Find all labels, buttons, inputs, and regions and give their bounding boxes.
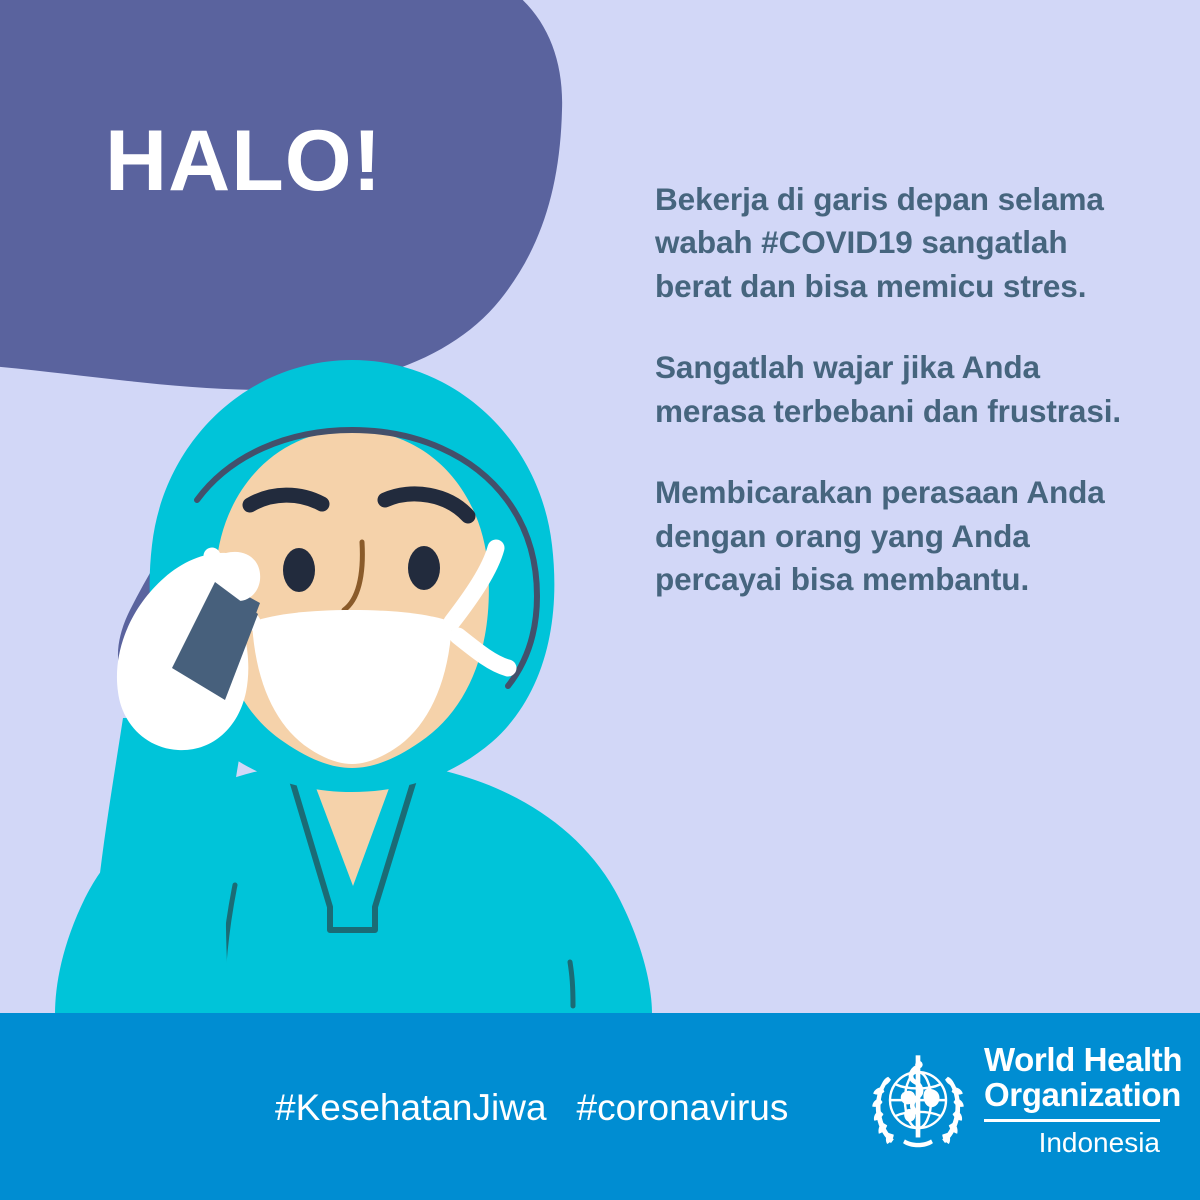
who-line-1: World Health bbox=[984, 1042, 1162, 1077]
who-logo: World Health Organization Indonesia bbox=[862, 1040, 1162, 1180]
eye-right bbox=[408, 546, 440, 590]
paragraph-2: Sangatlah wajar jika Anda merasa terbeba… bbox=[655, 346, 1125, 433]
eye-left bbox=[283, 548, 315, 592]
body-copy: Bekerja di garis depan selama wabah #COV… bbox=[655, 178, 1125, 602]
who-country-label: Indonesia bbox=[984, 1127, 1162, 1159]
hashtag-row: #KesehatanJiwa#coronavirus bbox=[275, 1087, 788, 1129]
who-emblem-icon bbox=[862, 1046, 974, 1158]
who-divider-rule bbox=[984, 1119, 1160, 1122]
paragraph-3: Membicarakan perasaan Anda dengan orang … bbox=[655, 471, 1125, 601]
who-wordmark: World Health Organization Indonesia bbox=[984, 1042, 1162, 1159]
headline-halo: HALO! bbox=[105, 118, 382, 204]
paragraph-1: Bekerja di garis depan selama wabah #COV… bbox=[655, 178, 1125, 308]
who-line-2: Organization bbox=[984, 1077, 1162, 1112]
hashtag-coronavirus[interactable]: #coronavirus bbox=[577, 1087, 789, 1128]
hashtag-kesehatanjiwa[interactable]: #KesehatanJiwa bbox=[275, 1087, 547, 1128]
shoulder-seam-right bbox=[570, 962, 573, 1006]
poster-canvas: HALO! Bekerja di garis depan selama waba… bbox=[0, 0, 1200, 1200]
